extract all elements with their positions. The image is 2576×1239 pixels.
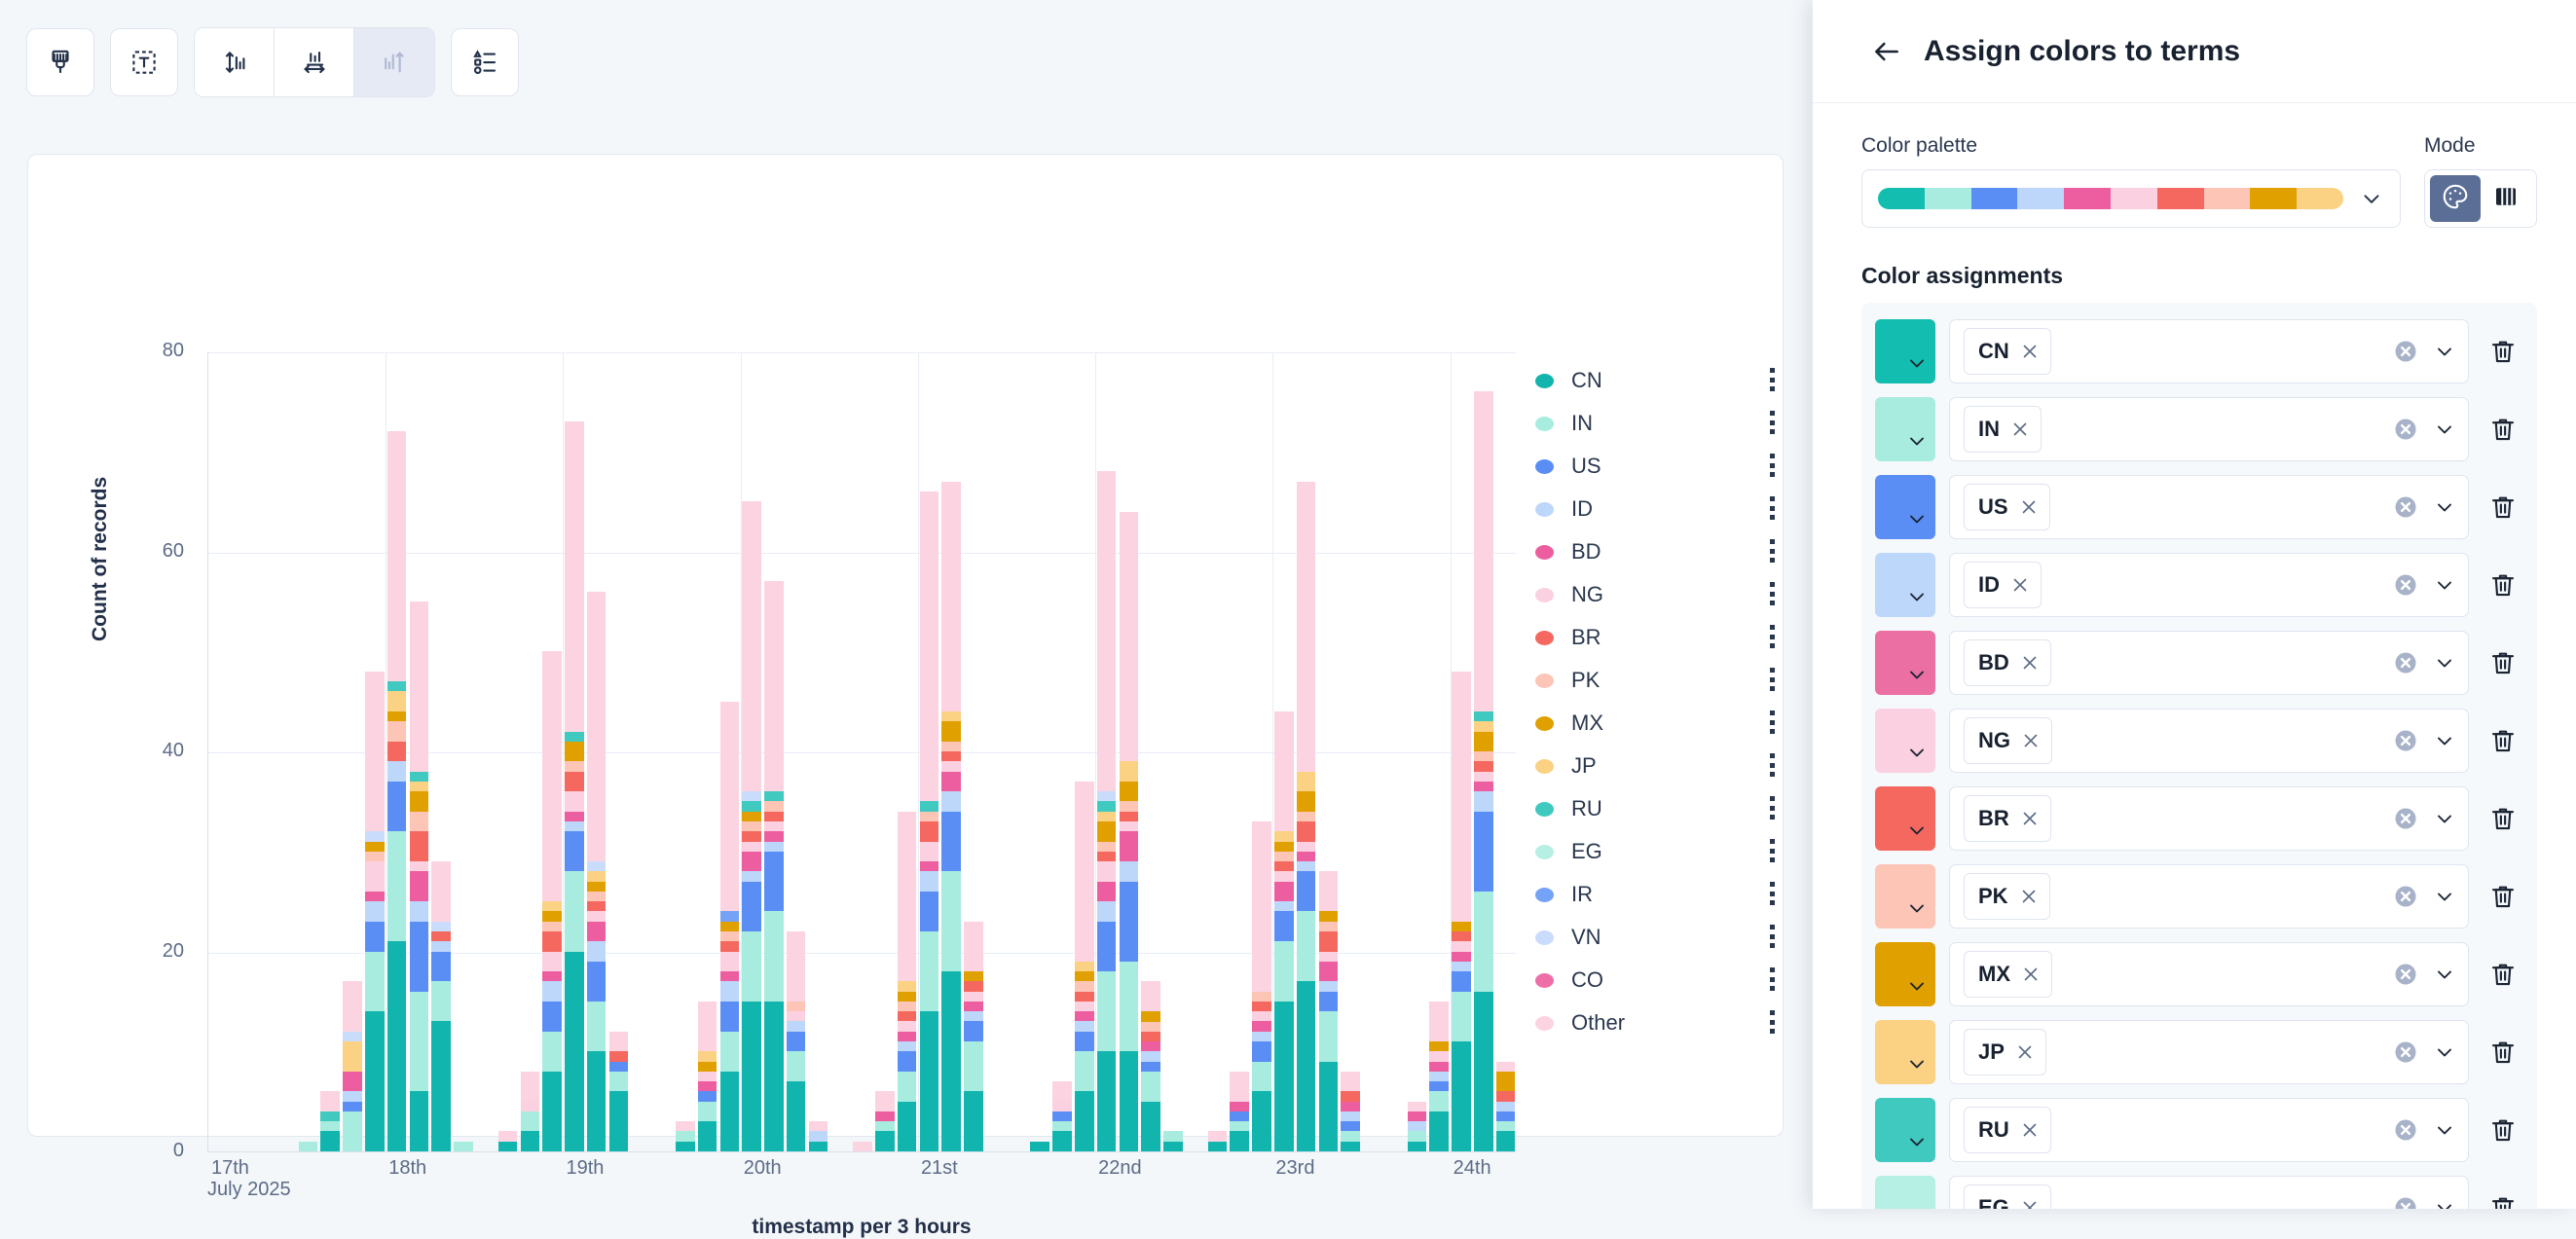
chevron-down-icon[interactable]	[2433, 807, 2456, 830]
bar-segment	[1496, 1072, 1516, 1092]
gradient-mode-icon	[2491, 182, 2521, 216]
delete-assignment-icon[interactable]	[2483, 882, 2523, 911]
remove-term-icon[interactable]	[2019, 652, 2041, 674]
plot-area[interactable]	[207, 352, 1516, 1152]
chevron-down-icon[interactable]	[2433, 1196, 2456, 1209]
bar-segment	[1141, 1051, 1160, 1061]
bar-segment	[1319, 962, 1339, 982]
clear-selection-icon[interactable]	[2392, 805, 2419, 832]
bar-stack[interactable]	[410, 601, 429, 1151]
bar-segment	[1120, 782, 1139, 802]
bar-stack[interactable]	[742, 501, 761, 1151]
clear-selection-icon[interactable]	[2392, 961, 2419, 988]
term-combobox[interactable]: NG	[1949, 709, 2469, 773]
term-chip: MX	[1964, 951, 2052, 998]
bar-stack[interactable]	[676, 1121, 695, 1151]
term-combobox[interactable]: ID	[1949, 553, 2469, 617]
drag-handle-icon[interactable]	[1765, 582, 1779, 607]
bar-stack[interactable]	[454, 1142, 473, 1151]
chevron-down-icon[interactable]	[2433, 1118, 2456, 1142]
bar-segment	[1120, 882, 1139, 962]
bar-segment	[542, 651, 562, 901]
assignment-color-swatch[interactable]	[1875, 319, 1935, 383]
remove-term-icon[interactable]	[2019, 808, 2041, 829]
bar-segment	[787, 1021, 806, 1031]
chevron-down-icon	[1905, 974, 1929, 1002]
bar-segment	[1452, 931, 1471, 941]
bar-stack[interactable]	[565, 421, 584, 1151]
bar-segment	[698, 1102, 718, 1122]
assignment-color-swatch[interactable]	[1875, 397, 1935, 461]
bar-stack[interactable]	[587, 592, 607, 1151]
bar-segment	[1341, 1072, 1360, 1092]
bar-stack[interactable]	[1429, 1002, 1449, 1151]
bar-segment	[343, 981, 362, 1031]
bar-stack[interactable]	[1319, 871, 1339, 1151]
bar-stack[interactable]	[1141, 981, 1160, 1151]
remove-term-icon[interactable]	[2019, 1119, 2041, 1141]
gridline-vertical	[1451, 352, 1452, 1151]
bar-segment	[565, 791, 584, 812]
term-combobox[interactable]: PK	[1949, 864, 2469, 929]
bar-stack[interactable]	[720, 702, 740, 1151]
mode-field: Mode	[2424, 134, 2537, 228]
chevron-down-icon	[1905, 351, 1929, 380]
bar-segment	[1274, 941, 1294, 1002]
drag-handle-icon[interactable]	[1765, 668, 1779, 693]
bar-stack[interactable]	[1097, 471, 1117, 1151]
bar-segment	[1141, 1011, 1160, 1021]
color-assignment-row: EG	[1861, 1169, 2537, 1209]
bar-segment	[320, 1091, 340, 1111]
legend-item-in[interactable]: IN	[1535, 402, 1779, 445]
remove-term-icon[interactable]	[2014, 1041, 2036, 1063]
horizontal-axis-icon	[300, 48, 329, 77]
bar-stack[interactable]	[764, 581, 784, 1151]
legend-item-mx[interactable]: MX	[1535, 702, 1779, 745]
bar-stack[interactable]	[941, 482, 961, 1151]
chevron-down-icon[interactable]	[2433, 573, 2456, 597]
bar-segment	[1141, 1041, 1160, 1051]
clear-selection-icon[interactable]	[2392, 1039, 2419, 1066]
clear-selection-icon[interactable]	[2392, 1194, 2419, 1209]
bar-segment	[565, 421, 584, 732]
delete-assignment-icon[interactable]	[2483, 492, 2523, 522]
bar-segment	[587, 882, 607, 892]
bar-segment	[1120, 801, 1139, 811]
bar-stack[interactable]	[609, 1032, 629, 1151]
bar-segment	[941, 812, 961, 872]
legend-color-dot	[1535, 888, 1554, 902]
breakdown-axis-button[interactable]	[354, 28, 434, 96]
drag-handle-icon[interactable]	[1765, 496, 1779, 522]
bar-segment	[587, 901, 607, 911]
chevron-down-icon[interactable]	[2433, 1040, 2456, 1064]
color-assignment-row: BD	[1861, 624, 2537, 702]
bar-segment	[587, 1002, 607, 1051]
vertical-axis-button[interactable]	[195, 28, 275, 96]
bar-segment	[387, 831, 407, 941]
legend-item-label: BD	[1571, 539, 1765, 565]
bar-segment	[1252, 1021, 1271, 1031]
bar-segment	[542, 1032, 562, 1072]
legend-item-id[interactable]: ID	[1535, 488, 1779, 530]
delete-assignment-icon[interactable]	[2483, 570, 2523, 600]
bar-stack[interactable]	[1052, 1081, 1072, 1151]
legend-color-dot	[1535, 545, 1554, 560]
chevron-down-icon[interactable]	[2433, 651, 2456, 674]
y-axis-title: Count of records	[89, 477, 112, 641]
bar-segment	[587, 871, 607, 881]
bar-stack[interactable]	[1297, 482, 1316, 1151]
bar-segment	[1052, 1131, 1072, 1151]
bar-stack[interactable]	[320, 1091, 340, 1151]
legend-item-bd[interactable]: BD	[1535, 530, 1779, 573]
bar-segment	[1120, 812, 1139, 821]
assignment-color-swatch[interactable]	[1875, 475, 1935, 539]
drag-handle-icon[interactable]	[1765, 454, 1779, 479]
bar-segment	[875, 1111, 895, 1121]
palette-mode-button[interactable]	[2430, 175, 2481, 222]
bar-segment	[875, 1131, 895, 1151]
bar-segment	[941, 871, 961, 971]
clear-selection-icon[interactable]	[2392, 649, 2419, 676]
drag-handle-icon[interactable]	[1765, 368, 1779, 393]
bar-segment	[1141, 1072, 1160, 1102]
chevron-down-icon	[1905, 429, 1929, 457]
bar-segment	[1297, 861, 1316, 871]
remove-term-icon[interactable]	[2018, 496, 2040, 518]
legend-item-pk[interactable]: PK	[1535, 659, 1779, 702]
legend-item-cn[interactable]: CN	[1535, 359, 1779, 402]
chevron-down-icon[interactable]	[2433, 418, 2456, 441]
remove-term-icon[interactable]	[2019, 1197, 2041, 1209]
palette-swatch	[2157, 188, 2204, 209]
term-chip: BR	[1964, 795, 2051, 842]
legend-item-ru[interactable]: RU	[1535, 787, 1779, 830]
chevron-down-icon[interactable]	[2433, 885, 2456, 908]
chart-card: Count of records 020406080 17th18th19th2…	[27, 154, 1784, 1137]
assignment-color-swatch[interactable]	[1875, 942, 1935, 1006]
bar-stack[interactable]	[343, 981, 362, 1151]
legend-item-label: PK	[1571, 668, 1765, 693]
bar-stack[interactable]	[431, 861, 451, 1151]
bar-stack[interactable]	[1496, 1062, 1516, 1151]
bar-segment	[343, 1041, 362, 1072]
bar-segment	[1274, 852, 1294, 861]
bar-segment	[1319, 1011, 1339, 1061]
delete-assignment-icon[interactable]	[2483, 1115, 2523, 1145]
delete-assignment-icon[interactable]	[2483, 648, 2523, 677]
drag-handle-icon[interactable]	[1765, 1010, 1779, 1036]
remove-term-icon[interactable]	[2019, 341, 2041, 362]
delete-assignment-icon[interactable]	[2483, 337, 2523, 366]
assignment-color-swatch[interactable]	[1875, 1020, 1935, 1084]
bar-segment	[1474, 391, 1493, 711]
legend-color-dot	[1535, 759, 1554, 774]
drag-handle-icon[interactable]	[1765, 796, 1779, 821]
bar-stack[interactable]	[1252, 821, 1271, 1151]
visualization-workspace: Count of records 020406080 17th18th19th2…	[0, 0, 1813, 1209]
palette-select[interactable]	[1861, 169, 2401, 228]
bar-stack[interactable]	[498, 1131, 518, 1151]
legend-color-dot	[1535, 1016, 1554, 1031]
bar-segment	[1297, 911, 1316, 981]
bar-stack[interactable]	[1120, 511, 1139, 1151]
drag-handle-icon[interactable]	[1765, 539, 1779, 565]
clear-selection-icon[interactable]	[2392, 338, 2419, 365]
x-tick-label: 19th	[566, 1157, 604, 1180]
drag-handle-icon[interactable]	[1765, 839, 1779, 864]
bar-segment	[1297, 981, 1316, 1151]
legend-list-icon	[470, 48, 499, 77]
term-combobox[interactable]: US	[1949, 475, 2469, 539]
bar-stack[interactable]	[387, 431, 407, 1151]
bar-segment	[898, 981, 917, 991]
bar-segment	[1120, 821, 1139, 831]
assignment-color-swatch[interactable]	[1875, 1098, 1935, 1162]
term-chip-label: ID	[1978, 572, 2000, 598]
bar-segment	[1297, 482, 1316, 772]
bar-segment	[898, 1051, 917, 1072]
bar-segment	[1075, 1002, 1094, 1011]
bar-segment	[1120, 761, 1139, 782]
gridline-vertical	[918, 352, 919, 1151]
bar-segment	[410, 901, 429, 922]
bar-segment	[964, 971, 983, 981]
palette-mode-icon	[2441, 182, 2470, 216]
drag-handle-icon[interactable]	[1765, 882, 1779, 907]
chart-legend: CNINUSIDBDNGBRPKMXJPRUEGIRVNCOOther	[1535, 359, 1779, 1044]
bar-stack[interactable]	[875, 1091, 895, 1151]
delete-assignment-icon[interactable]	[2483, 726, 2523, 755]
legend-item-ir[interactable]: IR	[1535, 873, 1779, 916]
drag-handle-icon[interactable]	[1765, 625, 1779, 650]
arrow-left-icon[interactable]	[1871, 36, 1902, 67]
gridline-vertical	[741, 352, 742, 1151]
drag-handle-icon[interactable]	[1765, 925, 1779, 950]
bar-segment	[609, 1091, 629, 1151]
drag-handle-icon[interactable]	[1765, 711, 1779, 736]
x-tick-label: 23rd	[1275, 1157, 1314, 1180]
drag-handle-icon[interactable]	[1765, 967, 1779, 993]
legend-item-us[interactable]: US	[1535, 445, 1779, 488]
bar-stack[interactable]	[365, 672, 385, 1151]
bar-segment	[1496, 1062, 1516, 1072]
clear-selection-icon[interactable]	[2392, 416, 2419, 443]
drag-handle-icon[interactable]	[1765, 753, 1779, 779]
bar-stack[interactable]	[521, 1072, 540, 1151]
term-combobox[interactable]: CN	[1949, 319, 2469, 383]
bar-segment	[1408, 1142, 1427, 1151]
clear-selection-icon[interactable]	[2392, 493, 2419, 521]
bar-stack[interactable]	[1452, 672, 1471, 1151]
bar-stack[interactable]	[1208, 1131, 1228, 1151]
bar-stack[interactable]	[1408, 1102, 1427, 1151]
bar-stack[interactable]	[1030, 1142, 1049, 1151]
term-combobox[interactable]: JP	[1949, 1020, 2469, 1084]
delete-assignment-icon[interactable]	[2483, 415, 2523, 444]
x-axis-month-label: July 2025	[207, 1179, 291, 1201]
term-combobox[interactable]: RU	[1949, 1098, 2469, 1162]
bar-stack[interactable]	[1474, 391, 1493, 1151]
assignment-color-swatch[interactable]	[1875, 864, 1935, 929]
remove-term-icon[interactable]	[2020, 730, 2042, 751]
term-combobox[interactable]: BD	[1949, 631, 2469, 695]
bar-stack[interactable]	[1230, 1072, 1249, 1151]
bar-segment	[720, 702, 740, 912]
bar-segment	[941, 791, 961, 812]
bar-segment	[964, 1041, 983, 1091]
assignment-color-swatch[interactable]	[1875, 709, 1935, 773]
bar-stack[interactable]	[898, 812, 917, 1151]
legend-item-label: VN	[1571, 925, 1765, 950]
bar-stack[interactable]	[542, 651, 562, 1151]
legend-item-jp[interactable]: JP	[1535, 745, 1779, 787]
bar-segment	[1120, 962, 1139, 1051]
bar-segment	[1319, 992, 1339, 1012]
delete-assignment-icon[interactable]	[2483, 1038, 2523, 1067]
bar-segment	[764, 821, 784, 831]
bar-stack[interactable]	[1274, 711, 1294, 1151]
clear-selection-icon[interactable]	[2392, 727, 2419, 754]
bar-segment	[365, 901, 385, 922]
clear-selection-icon[interactable]	[2392, 1116, 2419, 1144]
clear-selection-icon[interactable]	[2392, 883, 2419, 910]
bar-stack[interactable]	[853, 1142, 872, 1151]
legend-item-co[interactable]: CO	[1535, 959, 1779, 1002]
term-chip: CN	[1964, 328, 2051, 375]
bar-segment	[587, 911, 607, 921]
assignment-color-swatch[interactable]	[1875, 631, 1935, 695]
bar-segment	[1474, 992, 1493, 1151]
bar-segment	[1319, 981, 1339, 991]
bar-segment	[698, 1081, 718, 1091]
bar-stack[interactable]	[920, 492, 939, 1151]
bar-segment	[920, 861, 939, 871]
chevron-down-icon[interactable]	[2433, 729, 2456, 752]
clear-selection-icon[interactable]	[2392, 571, 2419, 599]
legend-item-vn[interactable]: VN	[1535, 916, 1779, 959]
x-tick-label: 17th	[211, 1157, 249, 1180]
legend-item-other[interactable]: Other	[1535, 1002, 1779, 1044]
style-brush-button[interactable]	[26, 28, 94, 96]
bar-stack[interactable]	[299, 1142, 318, 1151]
legend-item-eg[interactable]: EG	[1535, 830, 1779, 873]
assignment-color-swatch[interactable]	[1875, 553, 1935, 617]
legend-item-label: BR	[1571, 625, 1765, 650]
bar-segment	[542, 971, 562, 981]
legend-color-dot	[1535, 588, 1554, 602]
bar-segment	[720, 1072, 740, 1151]
assignment-color-swatch[interactable]	[1875, 786, 1935, 851]
y-tick-label: 40	[126, 740, 184, 762]
assignment-color-swatch[interactable]	[1875, 1176, 1935, 1209]
delete-assignment-icon[interactable]	[2483, 960, 2523, 989]
bar-stack[interactable]	[1075, 782, 1094, 1151]
bar-stack[interactable]	[1341, 1072, 1360, 1151]
chevron-down-icon[interactable]	[2433, 963, 2456, 986]
bar-stack[interactable]	[787, 931, 806, 1151]
legend-item-br[interactable]: BR	[1535, 616, 1779, 659]
delete-assignment-icon[interactable]	[2483, 1193, 2523, 1209]
horizontal-axis-button[interactable]	[275, 28, 354, 96]
bar-stack[interactable]	[809, 1121, 828, 1151]
bar-segment	[742, 791, 761, 801]
palette-swatch	[1878, 188, 1925, 209]
axis-tool-group	[194, 27, 435, 97]
drag-handle-icon[interactable]	[1765, 411, 1779, 436]
bar-segment	[1319, 911, 1339, 921]
legend-item-ng[interactable]: NG	[1535, 573, 1779, 616]
legend-color-dot	[1535, 631, 1554, 645]
delete-assignment-icon[interactable]	[2483, 804, 2523, 833]
remove-term-icon[interactable]	[2018, 886, 2040, 907]
gradient-mode-button[interactable]	[2481, 175, 2531, 222]
bar-segment	[587, 962, 607, 1002]
bar-segment	[410, 791, 429, 812]
bar-segment	[964, 992, 983, 1002]
bar-segment	[1452, 992, 1471, 1041]
bar-segment	[387, 941, 407, 1151]
chevron-down-icon[interactable]	[2433, 340, 2456, 363]
bar-segment	[742, 931, 761, 1002]
bar-segment	[898, 1011, 917, 1021]
bar-segment	[410, 601, 429, 772]
bar-segment	[853, 1142, 872, 1151]
bar-segment	[1496, 1102, 1516, 1111]
term-combobox[interactable]: BR	[1949, 786, 2469, 851]
bar-segment	[698, 1121, 718, 1151]
bar-stack[interactable]	[964, 922, 983, 1151]
bar-segment	[787, 1032, 806, 1052]
legend-color-dot	[1535, 802, 1554, 817]
bar-stack[interactable]	[698, 1002, 718, 1151]
text-frame-button[interactable]	[110, 28, 178, 96]
term-chip: US	[1964, 484, 2050, 530]
color-assignment-row: JP	[1861, 1013, 2537, 1091]
bar-segment	[431, 1021, 451, 1151]
bar-segment	[764, 842, 784, 852]
term-combobox[interactable]: IN	[1949, 397, 2469, 461]
bar-segment	[1052, 1081, 1072, 1102]
bar-segment	[742, 501, 761, 791]
term-combobox[interactable]: EG	[1949, 1176, 2469, 1209]
bar-segment	[343, 1032, 362, 1041]
bar-segment	[698, 1002, 718, 1051]
bar-stack[interactable]	[1163, 1131, 1183, 1151]
remove-term-icon[interactable]	[2009, 419, 2031, 440]
remove-term-icon[interactable]	[2020, 964, 2042, 985]
bar-segment	[1230, 1121, 1249, 1131]
bar-segment	[964, 981, 983, 991]
bar-segment	[431, 941, 451, 951]
x-tick-label: 24th	[1454, 1157, 1491, 1180]
bar-segment	[498, 1131, 518, 1141]
term-combobox[interactable]: MX	[1949, 942, 2469, 1006]
chevron-down-icon[interactable]	[2433, 495, 2456, 519]
legend-list-button[interactable]	[451, 28, 519, 96]
bar-segment	[964, 1091, 983, 1151]
bar-segment	[742, 852, 761, 872]
legend-color-dot	[1535, 930, 1554, 945]
remove-term-icon[interactable]	[2009, 574, 2031, 596]
bar-segment	[1097, 791, 1117, 801]
y-tick-label: 20	[126, 940, 184, 963]
bar-segment	[565, 742, 584, 762]
palette-swatch	[2204, 188, 2251, 209]
bar-segment	[542, 901, 562, 911]
